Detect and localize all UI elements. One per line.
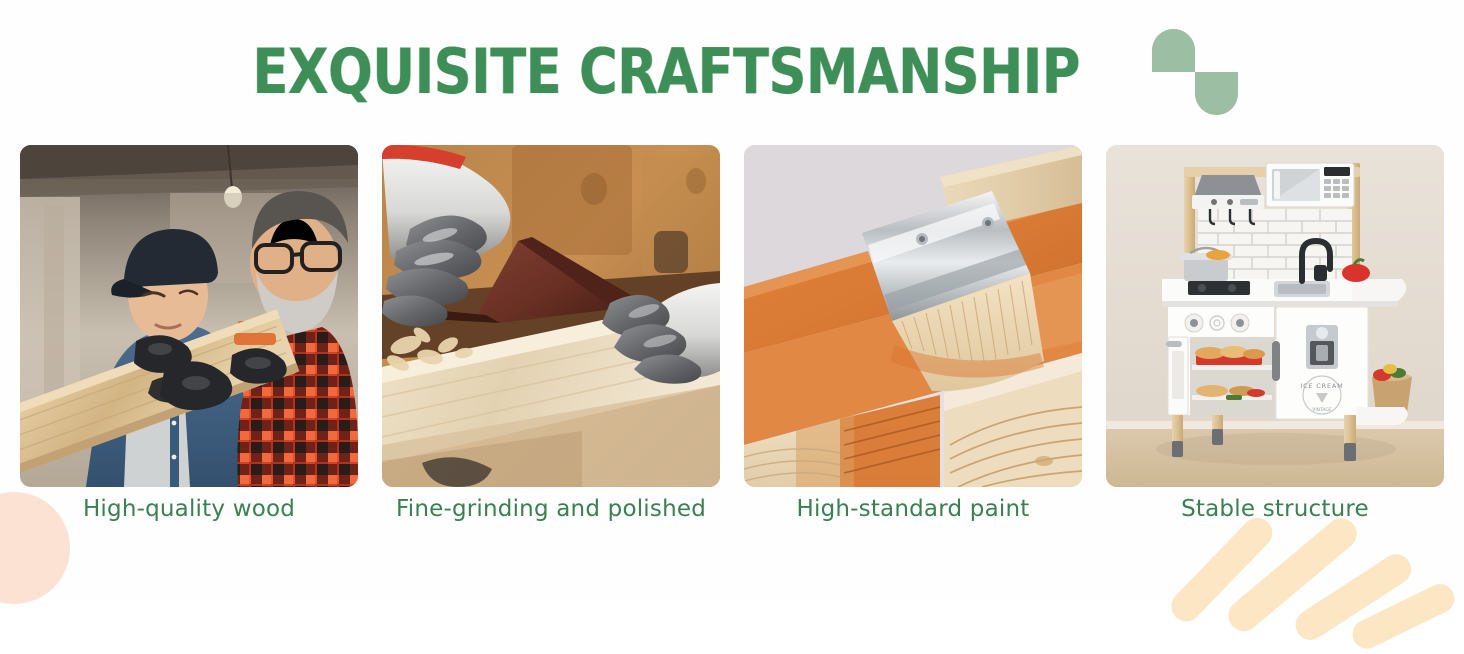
caption-fine-grinding-polished: Fine-grinding and polished [382,496,720,522]
page-title: EXQUISITE CRAFTSMANSHIP [252,36,1080,109]
feature-card: ICE CREAM VINTAGE [1106,145,1444,487]
caption-row: High-quality wood Fine-grinding and poli… [20,496,1444,522]
photo-stable-structure: ICE CREAM VINTAGE [1106,145,1444,487]
caption-high-standard-paint: High-standard paint [744,496,1082,522]
feature-card [382,145,720,487]
pinwheel-petal [1195,72,1238,115]
photo-high-standard-paint [744,145,1082,487]
svg-text:VINTAGE: VINTAGE [1312,407,1332,413]
pinwheel-petal [1152,29,1195,72]
banner-header: EXQUISITE CRAFTSMANSHIP [0,26,1464,118]
pinwheel-logo-icon [1152,29,1238,115]
svg-text:ICE CREAM: ICE CREAM [1300,382,1343,390]
feature-card-row: ICE CREAM VINTAGE [20,145,1444,487]
caption-stable-structure: Stable structure [1106,496,1444,522]
feature-card [20,145,358,487]
caption-high-quality-wood: High-quality wood [20,496,358,522]
feature-card [744,145,1082,487]
photo-fine-grinding-polished [382,145,720,487]
photo-high-quality-wood [20,145,358,487]
